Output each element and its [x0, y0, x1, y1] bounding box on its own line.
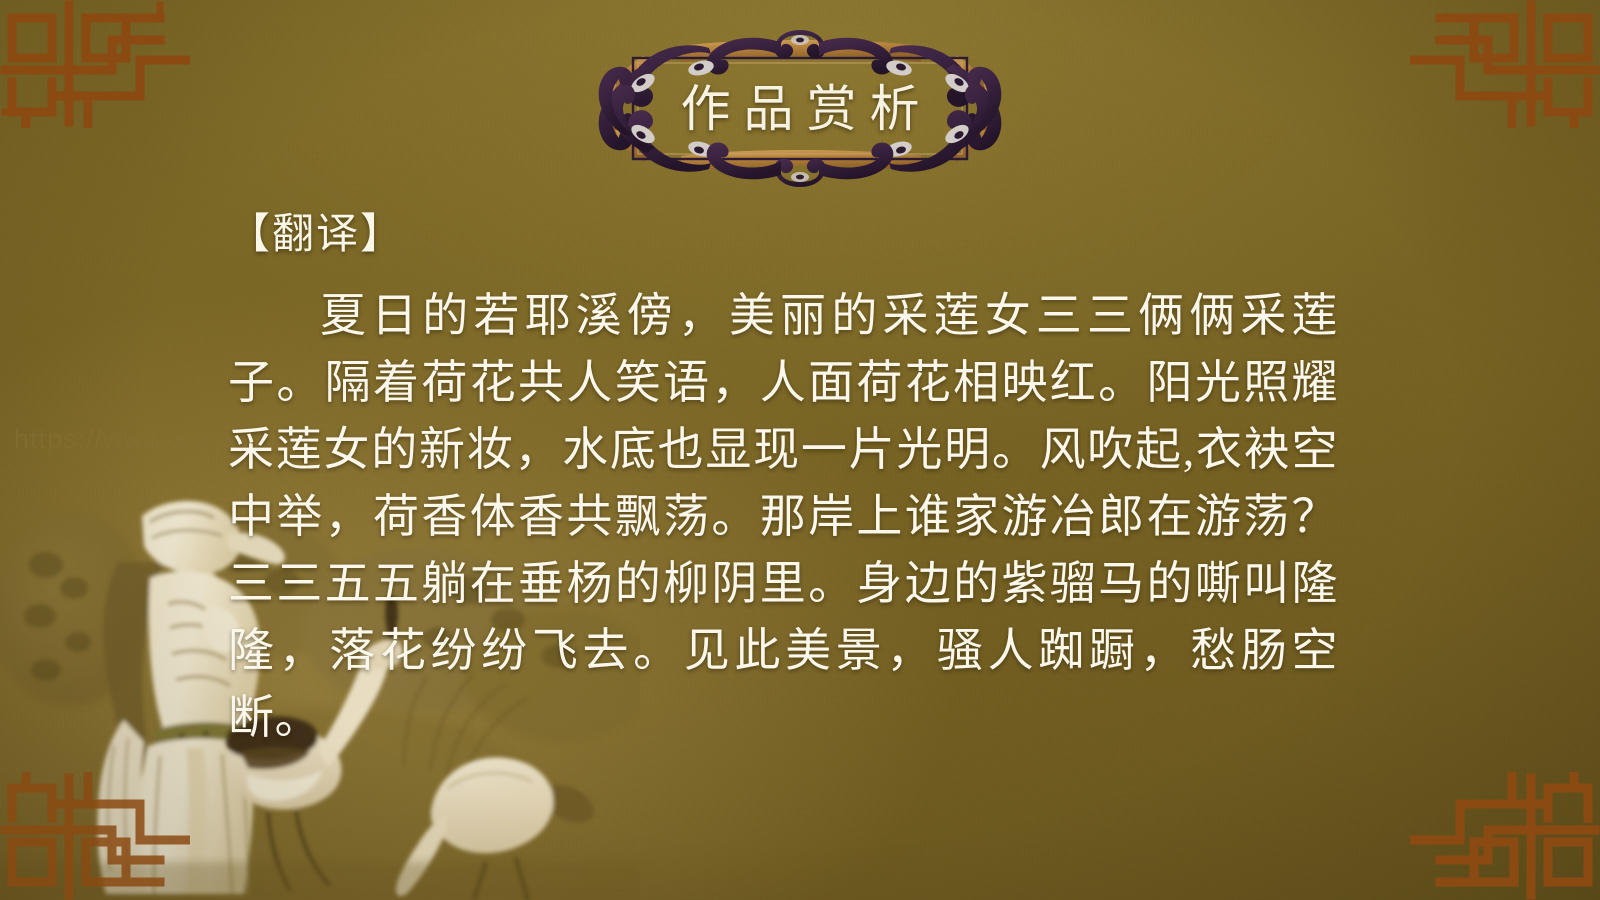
page-title: 作品赏析	[585, 84, 1015, 134]
title-plaque: 作品赏析	[585, 26, 1015, 191]
translation-body: 夏日的若耶溪傍，美丽的采莲女三三俩俩采莲子。隔着荷花共人笑语，人面荷花相映红。阳…	[228, 282, 1338, 751]
content-block: 【翻译】 夏日的若耶溪傍，美丽的采莲女三三俩俩采莲子。隔着荷花共人笑语，人面荷花…	[228, 214, 1338, 751]
slide-root: https://www.xxx.net	[0, 0, 1600, 900]
section-label-translation: 【翻译】	[228, 214, 1338, 256]
